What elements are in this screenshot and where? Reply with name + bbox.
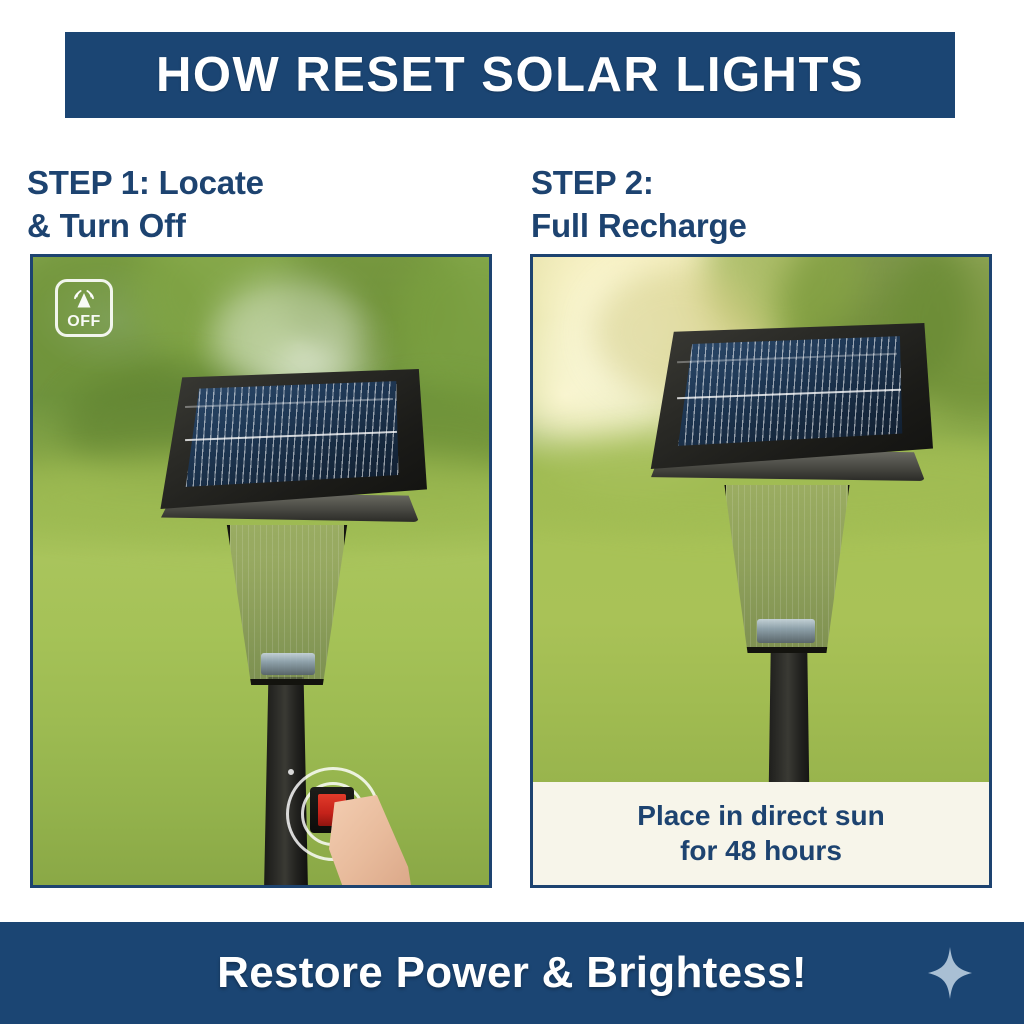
press-highlight-ring-outer (288, 769, 294, 775)
lamp-led (757, 619, 815, 643)
step-1-heading-line1: STEP 1: Locate & Turn Off (27, 164, 264, 244)
solar-lamp-step-1 (33, 257, 489, 885)
footer-bar: Restore Power & Brightess! (0, 922, 1024, 1024)
footer-title: Restore Power & Brightess! (217, 948, 807, 998)
step-1-photo: OFF (33, 257, 489, 885)
step-2-caption-box: Place in direct sun for 48 hours (533, 782, 989, 885)
step-2-image-panel: Place in direct sun for 48 hours (530, 254, 992, 888)
infographic-page: HOW RESET SOLAR LIGHTS STEP 1: Locate & … (0, 0, 1024, 1024)
step-2-heading: STEP 2: Full Recharge (531, 162, 991, 248)
page-title: HOW RESET SOLAR LIGHTS (156, 47, 864, 103)
lamp-led (261, 653, 315, 675)
header-bar: HOW RESET SOLAR LIGHTS (65, 32, 955, 118)
step-2-heading-line1: STEP 2: Full Recharge (531, 164, 747, 244)
step-1-image-panel: OFF (30, 254, 492, 888)
step-1-heading: STEP 1: Locate & Turn Off (27, 162, 487, 248)
step-2-caption-text: Place in direct sun for 48 hours (637, 799, 884, 867)
step-2-photo: Place in direct sun for 48 hours (533, 257, 989, 885)
sparkle-icon (928, 947, 972, 999)
